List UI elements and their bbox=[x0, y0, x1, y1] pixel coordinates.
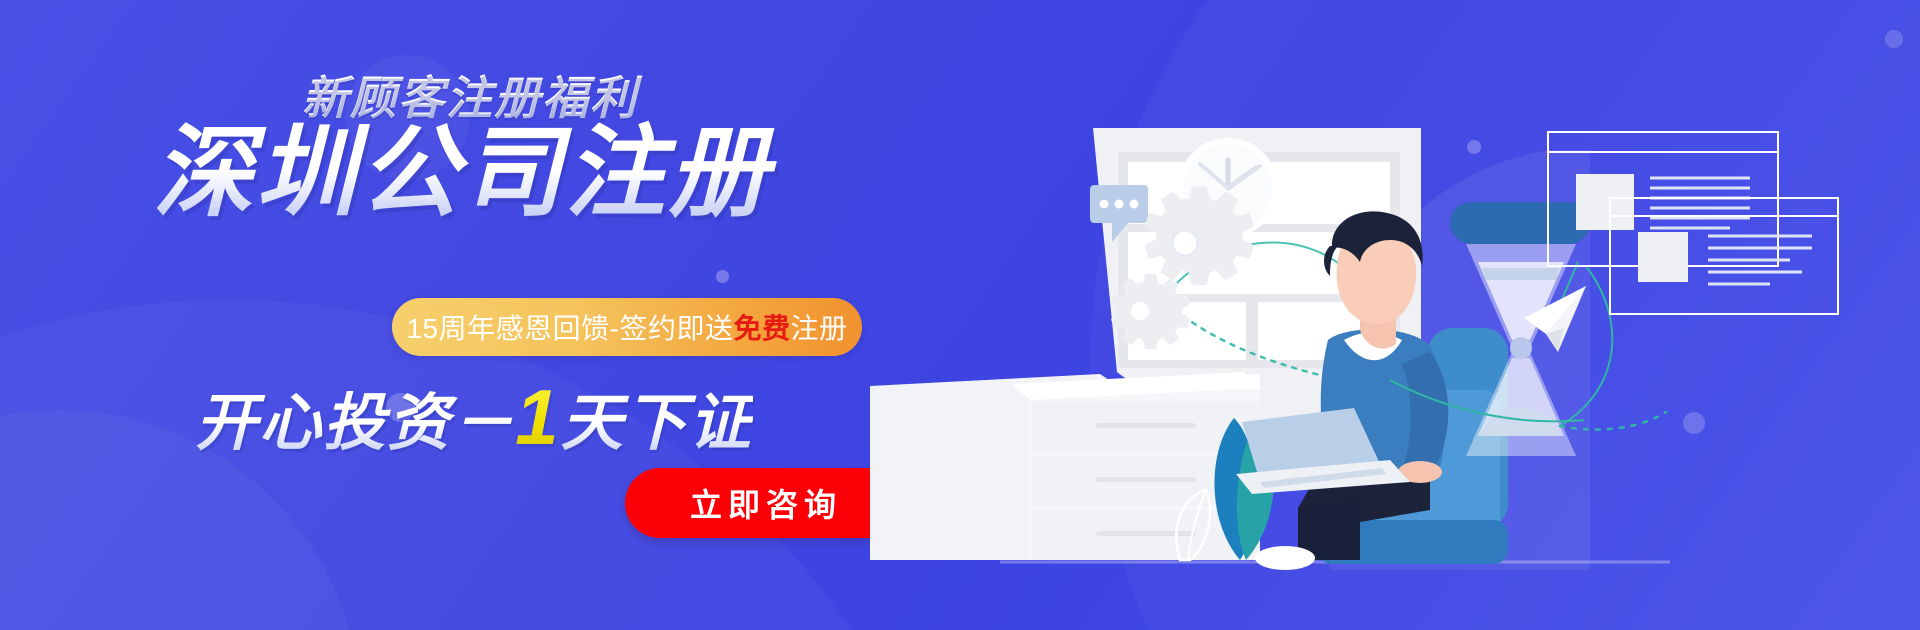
page-title: 深圳公司注册 bbox=[0, 118, 942, 228]
promo-badge-suffix: 注册 bbox=[790, 313, 847, 344]
promo-badge-prefix: 15周年感恩回馈-签约即送 bbox=[406, 313, 733, 344]
sub-headline-right: 天下证 bbox=[561, 389, 753, 458]
filing-cabinet bbox=[870, 372, 1262, 560]
promo-badge-accent: 免费 bbox=[733, 313, 790, 344]
promo-badge: 15周年感恩回馈-签约即送免费注册 bbox=[392, 298, 862, 356]
sub-headline: 开心投资－1天下证 bbox=[0, 372, 954, 463]
copy-block: 新顾客注册福利 深圳公司注册 15周年感恩回馈-签约即送免费注册 开心投资－1天… bbox=[0, 0, 960, 630]
promo-badge-text: 15周年感恩回馈-签约即送免费注册 bbox=[406, 307, 847, 347]
consult-now-label: 立即咨询 bbox=[684, 480, 842, 526]
document-card-bottom bbox=[1610, 198, 1838, 314]
sub-headline-number: 1 bbox=[515, 373, 560, 461]
decor-dot-e bbox=[1885, 30, 1903, 48]
hero-illustration bbox=[1030, 90, 1850, 570]
promo-banner: 新顾客注册福利 深圳公司注册 15周年感恩回馈-签约即送免费注册 开心投资－1天… bbox=[0, 0, 1920, 630]
consult-now-button[interactable]: 立即咨询 bbox=[625, 468, 901, 538]
sub-headline-left: 开心投资－ bbox=[195, 389, 515, 458]
gear-small-icon bbox=[1111, 274, 1190, 349]
